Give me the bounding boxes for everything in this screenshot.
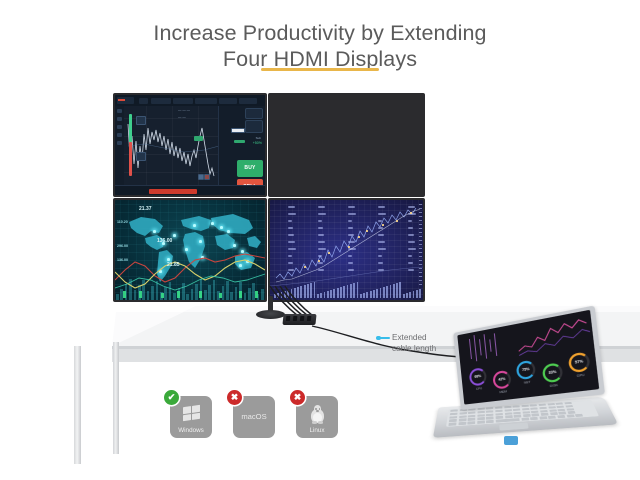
terminal-tab-list[interactable] xyxy=(219,98,237,104)
order-qty-card xyxy=(245,120,263,133)
terminal-alert-ticker xyxy=(149,189,197,194)
candle-axis-tick xyxy=(419,204,422,205)
order-slider[interactable] xyxy=(231,128,245,133)
candle-axis-tick xyxy=(419,240,422,241)
candle-axis-tick xyxy=(419,244,422,245)
map-value-label: 296.00 xyxy=(117,244,128,248)
keyboard-key[interactable] xyxy=(557,415,565,418)
chart-marker-1 xyxy=(136,116,146,125)
callout-leader-line xyxy=(378,337,390,339)
terminal-logo-icon xyxy=(117,97,134,104)
candle-volume-bar xyxy=(399,282,401,298)
keyboard-key[interactable] xyxy=(530,417,538,420)
keyboard-key[interactable] xyxy=(496,418,520,422)
terminal-tab-icon[interactable] xyxy=(139,98,148,104)
keyboard-key[interactable] xyxy=(566,415,574,418)
candle-right-axis xyxy=(419,204,422,286)
sidebar-tool-measure-icon[interactable] xyxy=(117,141,122,145)
candle-marker xyxy=(396,220,398,222)
terminal-tab-book[interactable] xyxy=(173,98,193,104)
candle-marker xyxy=(348,246,350,248)
map-value-label: 21.85 xyxy=(167,262,180,268)
candle-volume-bar xyxy=(413,291,415,298)
candle-axis-tick xyxy=(419,220,422,221)
candle-axis-tick xyxy=(419,224,422,225)
laptop-brand-logo xyxy=(504,436,518,445)
candle-volume-bar xyxy=(423,288,424,298)
candle-volume-bar xyxy=(383,287,385,298)
candle-marker xyxy=(358,236,360,238)
candle-volume-bar xyxy=(386,286,388,298)
laptop-gauge-label: CPU xyxy=(470,385,487,391)
map-wave-overlay xyxy=(115,200,265,300)
monitor-wall: — — — — — Sub +50% BUY SELL xyxy=(113,93,425,302)
candle-volume-bar xyxy=(390,285,392,298)
keyboard-key[interactable] xyxy=(486,420,494,423)
headline-line-1: Increase Productivity by Extending xyxy=(153,21,486,45)
sidebar-tool-shape-icon[interactable] xyxy=(117,125,122,129)
laptop-touchpad[interactable] xyxy=(499,423,528,431)
candle-volume-bar xyxy=(403,294,405,298)
chart-price-tag xyxy=(194,136,203,141)
terminal-tab-alerts[interactable] xyxy=(239,98,257,104)
candle-axis-tick xyxy=(419,208,422,209)
map-value-label: 110.20 xyxy=(117,220,128,224)
candle-axis-tick xyxy=(419,284,422,285)
candle-volume-bar xyxy=(419,289,421,298)
candle-axis-tick xyxy=(419,232,422,233)
candle-volume-bar xyxy=(406,293,408,298)
terminal-tab-chart[interactable] xyxy=(151,98,171,104)
hub-port-3 xyxy=(300,316,305,321)
status-badge-windows: ✔ xyxy=(164,390,179,405)
sidebar-tool-trend-icon[interactable] xyxy=(117,117,122,121)
buy-button[interactable]: BUY xyxy=(237,160,263,177)
order-ratio-card xyxy=(245,108,263,119)
bid-volume-bar xyxy=(129,114,132,142)
terminal-tab-screener[interactable] xyxy=(195,98,217,104)
order-percent: +50% xyxy=(253,141,262,145)
screen-trading-terminal: — — — — — Sub +50% BUY SELL xyxy=(115,95,265,195)
hub-port-1 xyxy=(286,316,291,321)
candle-axis-tick xyxy=(419,272,422,273)
candle-axis-tick xyxy=(419,216,422,217)
sidebar-tool-text-icon[interactable] xyxy=(117,133,122,137)
candle-axis-tick xyxy=(419,236,422,237)
chart-dot-b xyxy=(204,174,210,180)
candle-axis-tick xyxy=(419,212,422,213)
callout-line-1: Extended xyxy=(392,333,427,342)
candle-marker xyxy=(318,260,320,262)
laptop-gauge-label: GPU xyxy=(570,372,591,379)
candle-axis-tick xyxy=(419,256,422,257)
os-label-linux: Linux xyxy=(296,427,338,434)
map-value-label: 136.00 xyxy=(157,238,172,244)
keyboard-key[interactable] xyxy=(548,416,556,419)
os-label-windows: Windows xyxy=(170,427,212,434)
laptop-gauge-label: DISK xyxy=(544,382,564,389)
candle-axis-tick xyxy=(419,260,422,261)
status-badge-macos: ✖ xyxy=(227,390,242,405)
keyboard-key[interactable] xyxy=(575,414,583,417)
candle-axis-tick xyxy=(419,268,422,269)
sidebar-tool-cursor-icon[interactable] xyxy=(117,109,122,113)
screen-world-map: 21.37136.0021.85110.20296.00136.00 xyxy=(115,200,265,300)
map-value-label: 136.00 xyxy=(117,258,128,262)
terminal-price-chart: — — — — — xyxy=(124,106,219,186)
monitor-bottom-left[interactable]: 21.37136.0021.85110.20296.00136.00 xyxy=(113,198,267,302)
keyboard-key[interactable] xyxy=(477,421,485,424)
keyboard-key[interactable] xyxy=(521,418,529,421)
candle-axis-tick xyxy=(419,276,422,277)
keyboard-key[interactable] xyxy=(448,423,456,426)
page-title: Increase Productivity by Extending Four … xyxy=(0,20,640,72)
os-badge-windows[interactable]: Windows ✔ xyxy=(170,396,212,438)
laptop-gauge-label: NET xyxy=(518,379,537,386)
laptop[interactable]: 68%CPU42%MEM75%NET33%DISK57%GPU xyxy=(440,332,606,452)
candle-volume-bar xyxy=(396,283,398,298)
candle-volume-bar xyxy=(416,290,418,298)
desk-leg-left-rear xyxy=(113,342,119,454)
monitor-top-right[interactable]: ActualVolumeAverageCostMarketPriceAmount… xyxy=(268,93,425,197)
desk-leg-left xyxy=(74,346,81,464)
windows-logo-icon xyxy=(183,405,200,422)
candle-axis-tick xyxy=(419,280,422,281)
candle-marker xyxy=(366,230,368,232)
laptop-gauge-label: MEM xyxy=(494,389,512,395)
order-progress xyxy=(234,140,245,143)
ask-volume-bar xyxy=(129,142,132,176)
candle-volume-bar xyxy=(409,292,411,298)
monitor-top-left[interactable]: — — — — — Sub +50% BUY SELL xyxy=(113,93,267,197)
candle-marker xyxy=(410,212,412,214)
os-badge-macos[interactable]: macOS ✖ xyxy=(233,396,275,438)
candle-axis-tick xyxy=(419,252,422,253)
callout-line-2: cable length xyxy=(392,344,436,353)
candle-volume-bar xyxy=(393,284,395,298)
os-label-macos: macOS xyxy=(233,412,275,421)
order-sub-label: Sub xyxy=(256,136,261,140)
candle-axis-tick xyxy=(419,264,422,265)
candle-marker xyxy=(382,224,384,226)
status-badge-linux: ✖ xyxy=(290,390,305,405)
terminal-order-panel: Sub +50% BUY SELL xyxy=(218,106,265,186)
tux-penguin-icon xyxy=(310,405,325,423)
map-value-label: 21.37 xyxy=(139,206,152,212)
screen-candlestick-chart xyxy=(270,200,423,300)
keyboard-key[interactable] xyxy=(468,421,476,424)
keyboard-key[interactable] xyxy=(539,416,547,419)
candle-axis-tick xyxy=(419,248,422,249)
keyboard-key[interactable] xyxy=(458,422,466,425)
hub-port-2 xyxy=(293,316,298,321)
candle-marker xyxy=(328,252,330,254)
chart-marker-2 xyxy=(136,152,146,161)
product-marketing-image: Increase Productivity by Extending Four … xyxy=(0,0,640,480)
os-badge-linux[interactable]: Linux ✖ xyxy=(296,396,338,438)
candle-marker xyxy=(304,266,306,268)
candle-axis-tick xyxy=(419,228,422,229)
title-underline-accent xyxy=(261,68,379,71)
os-compatibility-row: Windows ✔ macOS ✖ Linux ✖ xyxy=(170,386,338,444)
